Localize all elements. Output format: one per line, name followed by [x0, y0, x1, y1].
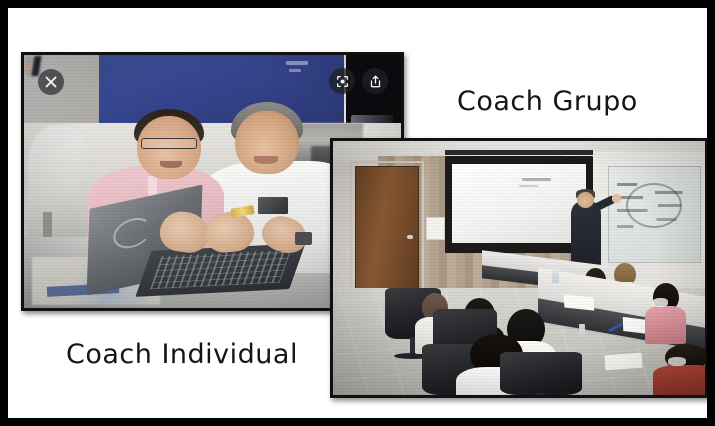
- attendee-red-shirt: [653, 344, 705, 395]
- presenter-body: [571, 202, 601, 271]
- attendee-torso: [653, 365, 705, 395]
- wooden-door: [355, 166, 418, 303]
- presenter-hand: [612, 194, 621, 203]
- caption-coach-grupo: Coach Grupo: [457, 88, 638, 115]
- white-chair: [28, 126, 88, 242]
- laptop-logo: [113, 214, 152, 252]
- slide-subtext: [519, 185, 538, 187]
- photo-coach-grupo[interactable]: [330, 138, 707, 398]
- man-white-shirt-smile: [254, 156, 279, 164]
- attendee-pink-dress: [645, 283, 686, 344]
- man-pink-shirt-smile: [160, 161, 183, 168]
- attendee-torso: [645, 306, 686, 344]
- slide-frame: Coach Grupo: [0, 0, 715, 426]
- chair-post: [536, 393, 543, 395]
- projector-screen-rail: [445, 150, 594, 156]
- name-badge: [258, 197, 288, 215]
- projected-slide: [452, 164, 586, 243]
- image-action-bar: [329, 68, 388, 94]
- close-icon[interactable]: [38, 69, 64, 95]
- face-mask: [668, 357, 687, 366]
- slide-heading: [522, 178, 551, 181]
- eyeglasses: [141, 138, 198, 148]
- office-chair: [500, 352, 582, 395]
- handout-paper: [604, 353, 642, 371]
- slide-canvas: Coach Grupo: [8, 8, 707, 418]
- wristwatch: [295, 232, 312, 245]
- water-bottle: [579, 324, 586, 339]
- caption-coach-individual: Coach Individual: [66, 341, 298, 368]
- wall-notice: [426, 217, 445, 240]
- share-icon[interactable]: [362, 68, 388, 94]
- photo-grupo-scene: [333, 141, 705, 395]
- chair-back: [500, 352, 582, 395]
- water-bottle: [552, 268, 559, 283]
- google-lens-icon[interactable]: [329, 68, 355, 94]
- glass-whiteboard: [608, 166, 701, 263]
- banner-text-line-2: [289, 69, 301, 72]
- banner-text-line-1: [286, 61, 308, 65]
- blue-banner-screen: [99, 55, 348, 123]
- keyboard-keys: [150, 250, 291, 289]
- door-handle: [407, 235, 413, 239]
- whiteboard-diagram: [626, 183, 682, 228]
- face-mask: [653, 298, 668, 306]
- man-white-shirt-head: [235, 111, 299, 174]
